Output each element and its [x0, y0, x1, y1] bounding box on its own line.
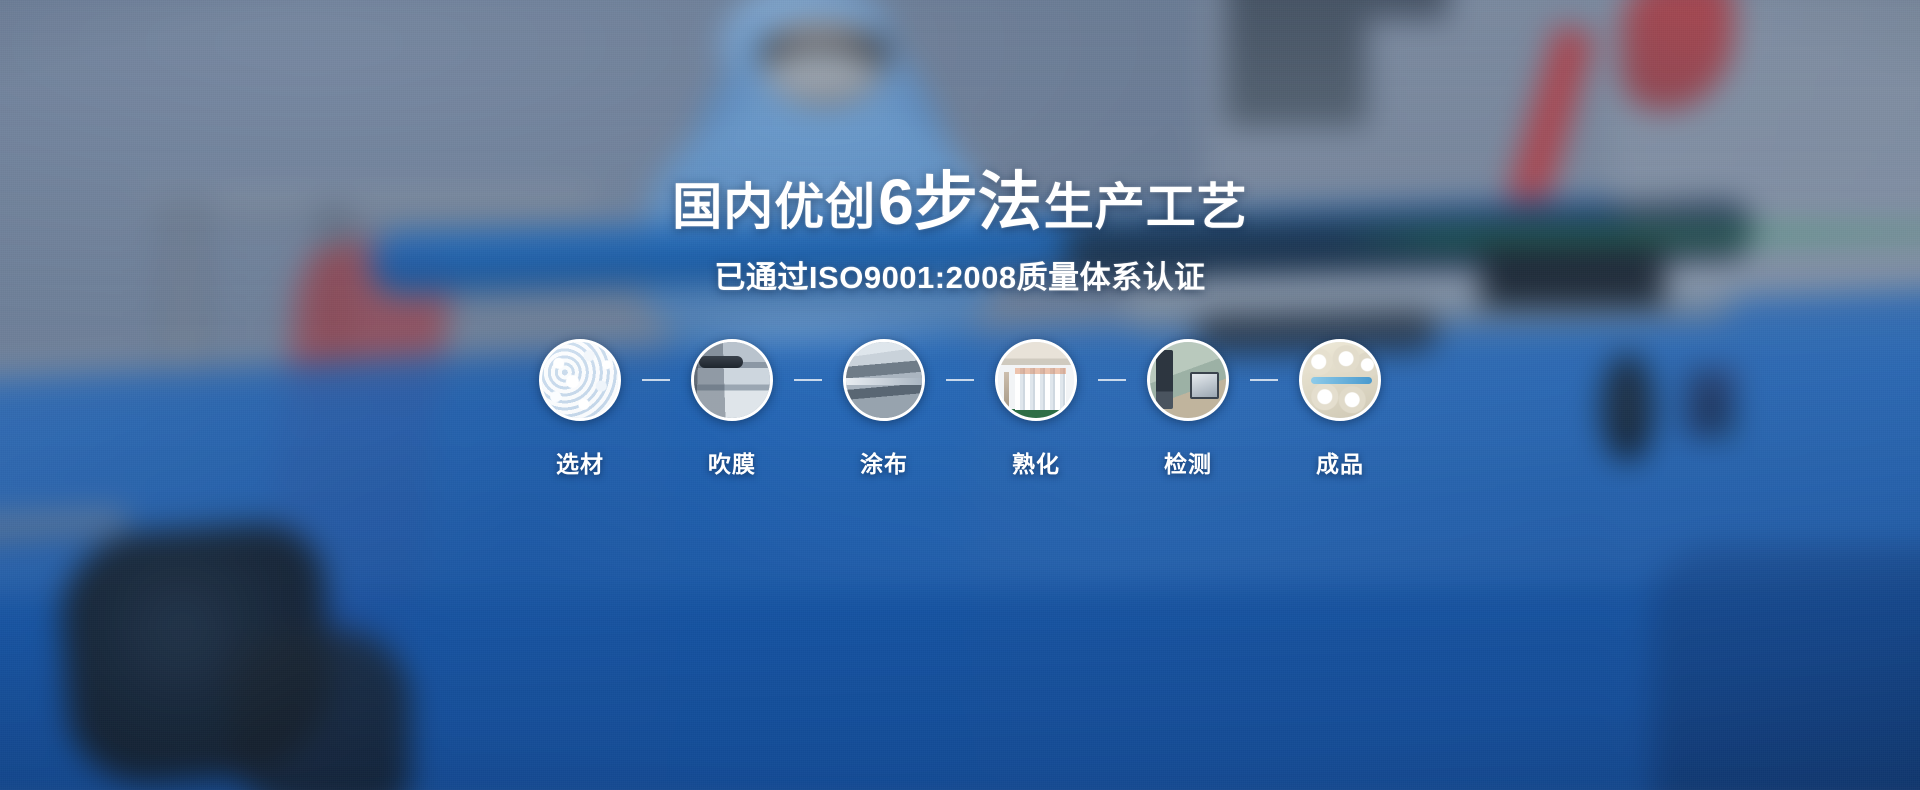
process-step-1[interactable]: 选材 [521, 339, 639, 479]
headline-trail: 生产工艺 [1044, 182, 1248, 232]
banner-content: 国内优创 6步法 生产工艺 已通过ISO9001:2008质量体系认证 选材 吹… [0, 0, 1920, 790]
step-label: 成品 [1316, 445, 1364, 479]
step-connector-2 [791, 339, 825, 421]
headline-emphasis: 6步法 [878, 170, 1042, 234]
process-step-4[interactable]: 熟化 [977, 339, 1095, 479]
process-step-3[interactable]: 涂布 [825, 339, 943, 479]
process-step-list: 选材 吹膜 涂布 熟化 [521, 339, 1399, 479]
step-connector-4 [1095, 339, 1129, 421]
coating-machine-icon [846, 342, 922, 418]
step-label: 检测 [1164, 445, 1212, 479]
process-step-6[interactable]: 成品 [1281, 339, 1399, 479]
step-thumbnail-finished[interactable] [1299, 339, 1381, 421]
curing-room-strip-curtain-icon [998, 342, 1074, 418]
step-connector-1 [639, 339, 673, 421]
finished-film-rolls-icon [1302, 342, 1378, 418]
plastic-resin-pellets-icon [542, 342, 618, 418]
step-thumbnail-selection[interactable] [539, 339, 621, 421]
testing-instrument-icon [1150, 342, 1226, 418]
headline-lead: 国内优创 [672, 182, 876, 232]
step-thumbnail-curing[interactable] [995, 339, 1077, 421]
step-label: 涂布 [860, 445, 908, 479]
process-step-2[interactable]: 吹膜 [673, 339, 791, 479]
step-thumbnail-blown-film[interactable] [691, 339, 773, 421]
step-thumbnail-testing[interactable] [1147, 339, 1229, 421]
step-label: 选材 [556, 445, 604, 479]
process-step-5[interactable]: 检测 [1129, 339, 1247, 479]
step-label: 熟化 [1012, 445, 1060, 479]
step-thumbnail-coating[interactable] [843, 339, 925, 421]
blown-film-extruder-icon [694, 342, 770, 418]
step-connector-3 [943, 339, 977, 421]
subheadline: 已通过ISO9001:2008质量体系认证 [714, 252, 1205, 297]
process-banner: 国内优创 6步法 生产工艺 已通过ISO9001:2008质量体系认证 选材 吹… [0, 0, 1920, 790]
step-connector-5 [1247, 339, 1281, 421]
headline: 国内优创 6步法 生产工艺 [672, 170, 1248, 234]
step-label: 吹膜 [708, 445, 756, 479]
